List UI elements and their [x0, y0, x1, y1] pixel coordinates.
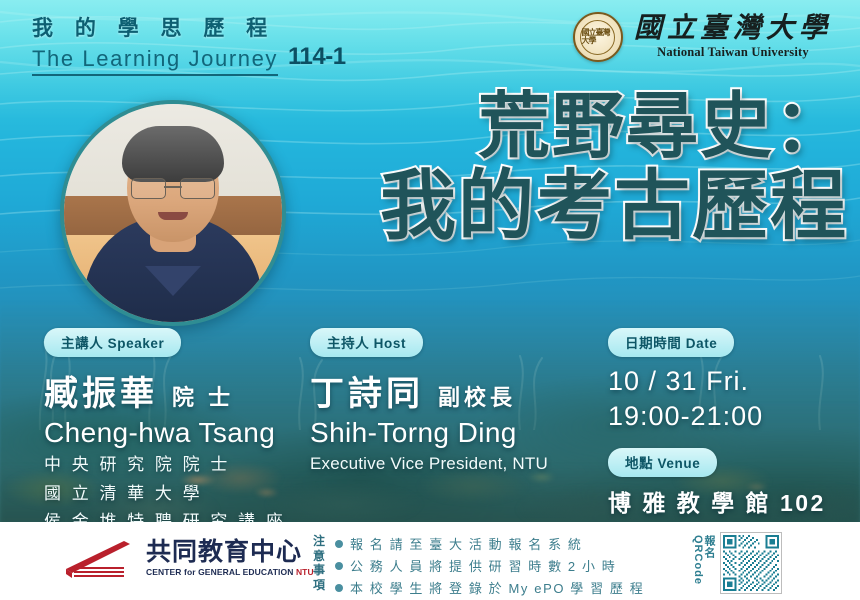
speaker-affiliation-2: 國 立 清 華 大 學	[44, 482, 314, 507]
footer-bar: 共同教育中心 CENTER for GENERAL EDUCATION NTU …	[0, 522, 860, 600]
series-title-cn: 我 的 學 思 歷 程	[32, 12, 346, 42]
notes-list: 報 名 請 至 臺 大 活 動 報 名 系 統 公 務 人 員 將 提 供 研 …	[335, 534, 644, 597]
page-title: 荒野尋史： 我的考古歷程	[380, 86, 848, 248]
date-badge: 日期時間 Date	[608, 328, 734, 357]
organizer-logo: 共同教育中心 CENTER for GENERAL EDUCATION NTU	[62, 535, 314, 581]
notes-label: 注意事項	[312, 534, 326, 593]
bullet-icon	[335, 562, 343, 570]
speaker-name-en: Cheng-hwa Tsang	[44, 417, 314, 449]
host-badge: 主持人 Host	[310, 328, 423, 357]
poster-root: 我 的 學 思 歷 程 The Learning Journey 114-1 國…	[0, 0, 860, 600]
event-time: 19:00-21:00	[608, 399, 856, 434]
host-title-cn: 副校長	[438, 380, 516, 412]
host-name-en: Shih-Torng Ding	[310, 417, 600, 449]
host-block: 主持人 Host 丁詩同 副校長 Shih-Torng Ding Executi…	[310, 328, 600, 474]
bullet-icon	[335, 540, 343, 548]
ntu-logo: 國立臺灣大學 國立臺灣大學 National Taiwan University	[573, 12, 832, 62]
organizer-name-en: CENTER for GENERAL EDUCATION NTU	[146, 567, 314, 577]
portrait-glasses	[131, 178, 215, 198]
note-text: 本 校 學 生 將 登 錄 於 My ePO 學 習 歷 程	[350, 578, 644, 597]
note-item: 本 校 學 生 將 登 錄 於 My ePO 學 習 歷 程	[335, 578, 644, 597]
note-text: 公 務 人 員 將 提 供 研 習 時 數 2 小 時	[350, 556, 616, 575]
title-line-2: 我的考古歷程	[380, 163, 848, 248]
speaker-badge: 主講人 Speaker	[44, 328, 181, 357]
ntu-seal-icon: 國立臺灣大學	[573, 12, 623, 62]
speaker-block: 主講人 Speaker 臧振華 院 士 Cheng-hwa Tsang 中 央 …	[44, 328, 314, 535]
speaker-portrait	[60, 100, 286, 326]
semester-label: 114-1	[288, 43, 346, 76]
title-line-1: 荒野尋史：	[380, 86, 848, 167]
ntu-name-cn: 國立臺灣大學	[634, 14, 832, 43]
organizer-name-en-main: CENTER for GENERAL EDUCATION	[146, 567, 296, 577]
series-title-en: The Learning Journey	[32, 46, 278, 76]
open-book-icon	[62, 535, 136, 581]
speaker-affiliation-1: 中 央 研 究 院 院 士	[44, 453, 314, 478]
qr-code-icon[interactable]	[720, 532, 782, 594]
bullet-icon	[335, 584, 343, 592]
host-affiliation-en: Executive Vice President, NTU	[310, 454, 600, 474]
note-item: 報 名 請 至 臺 大 活 動 報 名 系 統	[335, 534, 644, 553]
note-text: 報 名 請 至 臺 大 活 動 報 名 系 統	[350, 534, 583, 553]
ntu-name-en: National Taiwan University	[657, 45, 809, 60]
registration-qr-block[interactable]: 報名 QRCode	[692, 532, 782, 594]
series-header: 我 的 學 思 歷 程 The Learning Journey 114-1	[32, 12, 346, 76]
ntu-seal-inner-text: 國立臺灣大學	[580, 20, 615, 55]
event-date: 10 / 31 Fri.	[608, 364, 856, 399]
host-name-cn: 丁詩同	[310, 366, 424, 415]
venue-badge: 地點 Venue	[608, 448, 717, 477]
speaker-title-cn: 院 士	[172, 380, 234, 412]
note-item: 公 務 人 員 將 提 供 研 習 時 數 2 小 時	[335, 556, 644, 575]
organizer-name-cn: 共同教育中心	[146, 539, 314, 565]
notes-block: 注意事項 報 名 請 至 臺 大 活 動 報 名 系 統 公 務 人 員 將 提…	[312, 534, 644, 597]
qr-label: 報名 QRCode	[692, 535, 714, 591]
speaker-name-cn: 臧振華	[44, 366, 158, 415]
